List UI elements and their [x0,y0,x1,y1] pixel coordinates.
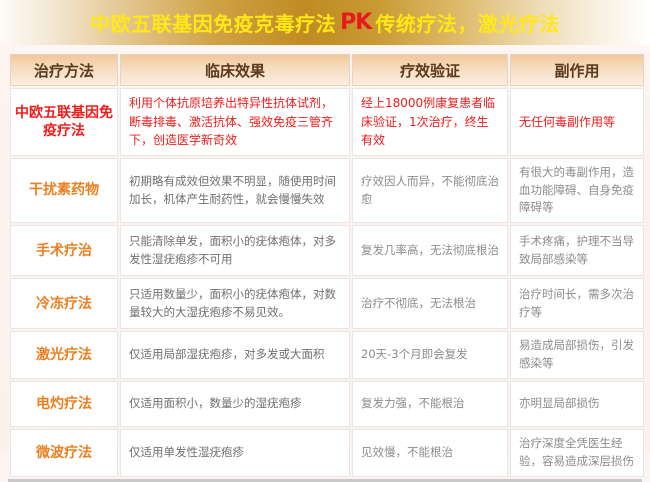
cell-side: 手术疼痛，护理不当导致局部感染等 [510,225,644,276]
table-body: 中欧五联基因免疫疗法 利用个体抗原培养出特异性抗体试剂，断毒排毒、激活抗体、强效… [10,88,644,477]
cell-method: 微波疗法 [10,429,118,477]
page-root: 中欧五联基因免疫克毒疗法PK传统疗法，激光疗法 治疗方法 临床效果 疗效验证 副… [0,0,650,450]
cell-verify: 复发力强，不能根治 [352,381,508,427]
banner-pk-label: PK [336,10,375,35]
cell-side: 有很大的毒副作用，造血功能障碍、自身免疫障碍等 [510,158,644,223]
cell-effect: 利用个体抗原培养出特异性抗体试剂，断毒排毒、激活抗体、强效免疫三管齐下，创造医学… [120,88,350,156]
cell-verify: 疗效因人而异，不能彻底治愈 [352,158,508,223]
cell-method: 干扰素药物 [10,158,118,223]
comparison-table-wrapper: 治疗方法 临床效果 疗效验证 副作用 中欧五联基因免疫疗法 利用个体抗原培养出特… [8,52,642,482]
cell-verify: 见效慢，不能根治 [352,429,508,477]
comparison-table: 治疗方法 临床效果 疗效验证 副作用 中欧五联基因免疫疗法 利用个体抗原培养出特… [8,52,646,479]
cell-method: 激光疗法 [10,331,118,379]
banner-title-right: 传统疗法，激光疗法 [375,12,560,36]
cell-side: 亦明显局部损伤 [510,381,644,427]
column-header-verify: 疗效验证 [352,54,508,86]
table-row: 手术疗治 只能清除单发，面积小的疣体疱体，对多发性湿疣疱疹不可用 复发几率高，无… [10,225,644,276]
cell-method: 手术疗治 [10,225,118,276]
cell-effect: 仅适用单发性湿疣疱疹 [120,429,350,477]
table-row: 电灼疗法 仅适用面积小，数量少的湿疣疱疹 复发力强，不能根治 亦明显局部损伤 [10,381,644,427]
table-row: 激光疗法 仅适用局部湿疣疱疹，对多发或大面积 20天-3个月即会复发 易造成局部… [10,331,644,379]
cell-method: 中欧五联基因免疫疗法 [10,88,118,156]
cell-effect: 仅适用局部湿疣疱疹，对多发或大面积 [120,331,350,379]
cell-verify: 20天-3个月即会复发 [352,331,508,379]
cell-effect: 初期略有成效但效果不明显，随使用时间加长，机体产生耐药性，就会慢慢失效 [120,158,350,223]
banner-title-left: 中欧五联基因免疫克毒疗法 [90,12,336,36]
cell-effect: 仅适用面积小，数量少的湿疣疱疹 [120,381,350,427]
table-row: 干扰素药物 初期略有成效但效果不明显，随使用时间加长，机体产生耐药性，就会慢慢失… [10,158,644,223]
cell-effect: 只能清除单发，面积小的疣体疱体，对多发性湿疣疱疹不可用 [120,225,350,276]
column-header-method: 治疗方法 [10,54,118,86]
column-header-effect: 临床效果 [120,54,350,86]
cell-side: 治疗时间长，需多次治疗等 [510,278,644,329]
table-row: 微波疗法 仅适用单发性湿疣疱疹 见效慢，不能根治 治疗深度全凭医生经验，容易造成… [10,429,644,477]
cell-verify: 治疗不彻底，无法根治 [352,278,508,329]
table-header-row: 治疗方法 临床效果 疗效验证 副作用 [10,54,644,86]
cell-side: 易造成局部损伤，引发感染等 [510,331,644,379]
cell-method: 电灼疗法 [10,381,118,427]
banner-text-group: 中欧五联基因免疫克毒疗法PK传统疗法，激光疗法 [0,8,650,37]
table-row: 冷冻疗法 只适用数量少，面积小的疣体疱体，对数量较大的大湿疣疱疹不易见效。 治疗… [10,278,644,329]
cell-side: 治疗深度全凭医生经验，容易造成深层损伤 [510,429,644,477]
cell-effect: 只适用数量少，面积小的疣体疱体，对数量较大的大湿疣疱疹不易见效。 [120,278,350,329]
cell-verify: 复发几率高，无法彻底根治 [352,225,508,276]
cell-verify: 经上18000例康复患者临床验证，1次治疗，终生有效 [352,88,508,156]
cell-side: 无任何毒副作用等 [510,88,644,156]
table-header: 治疗方法 临床效果 疗效验证 副作用 [10,54,644,86]
table-row: 中欧五联基因免疫疗法 利用个体抗原培养出特异性抗体试剂，断毒排毒、激活抗体、强效… [10,88,644,156]
cell-method: 冷冻疗法 [10,278,118,329]
column-header-side: 副作用 [510,54,644,86]
page-banner: 中欧五联基因免疫克毒疗法PK传统疗法，激光疗法 [0,0,650,45]
